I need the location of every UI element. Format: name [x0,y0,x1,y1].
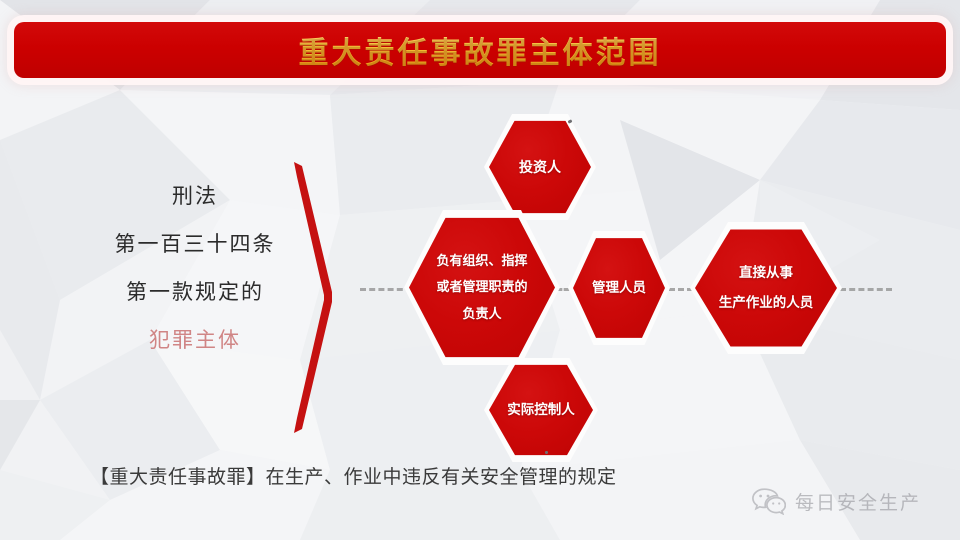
slide-canvas: 重大责任事故罪主体范围 刑法 第一百三十四条 第一款规定的 犯罪主体 投资人 负… [0,0,960,540]
hexagon-manager-label: 管理人员 [586,276,652,300]
hexagon-actual-controller-body: 实际控制人 [489,363,593,457]
connector-dash-left [360,288,412,291]
hexagon-actual-controller-label: 实际控制人 [501,398,581,422]
page-title: 重大责任事故罪主体范围 [299,28,662,72]
connector-dash-right [840,288,892,291]
hexagon-responsible-person-body: 负有组织、指挥 或者管理职责的 负责人 [409,215,555,360]
title-banner: 重大责任事故罪主体范围 [14,22,946,78]
hexagon-worker-body: 直接从事 生产作业的人员 [695,227,837,349]
red-chevron-right-icon [280,160,340,435]
watermark: 每日安全生产 [752,487,921,515]
hexagon-responsible-person-label-1: 负有组织、指挥 [430,248,533,275]
hexagon-responsible-person-label-3: 负责人 [430,301,533,328]
law-line-2: 第一百三十四条 [90,233,300,255]
hexagon-worker-label-1: 直接从事 [713,258,820,288]
law-line-1: 刑法 [90,185,300,207]
wechat-icon [752,487,786,515]
hexagon-manager-body: 管理人员 [573,236,665,340]
hexagon-investor-label: 投资人 [513,155,567,180]
speck-mark-bottom [545,451,548,454]
hexagon-responsible-person-label-2: 或者管理职责的 [430,274,533,301]
hexagon-worker-label-2: 生产作业的人员 [713,288,820,318]
law-line-3: 第一款规定的 [90,281,300,303]
watermark-text: 每日安全生产 [795,488,921,515]
law-line-highlight: 犯罪主体 [90,329,300,351]
law-reference-block: 刑法 第一百三十四条 第一款规定的 犯罪主体 [90,185,300,351]
hexagon-investor-body: 投资人 [489,119,591,215]
caption-text: 【重大责任事故罪】在生产、作业中违反有关安全管理的规定 [90,462,617,489]
